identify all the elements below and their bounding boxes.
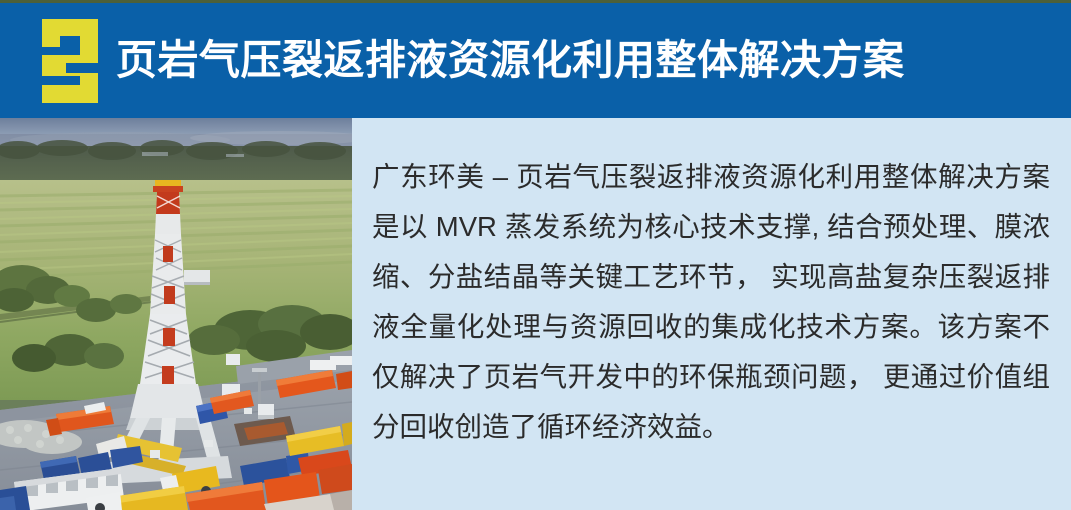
description-paragraph: 广东环美 – 页岩气压裂返排液资源化利用整体解决方案是以 MVR 蒸发系统为核心… [372, 152, 1050, 452]
shale-gas-drilling-rig-aerial-photo [0, 118, 352, 510]
header-content: 页岩气压裂返排液资源化利用整体解决方案 [0, 3, 1071, 118]
slide-page: 页岩气压裂返排液资源化利用整体解决方案 [0, 0, 1071, 510]
description-text: 广东环美 – 页岩气压裂返排液资源化利用整体解决方案是以 MVR 蒸发系统为核心… [372, 152, 1050, 452]
stylized-numeral-two-icon [36, 19, 108, 103]
page-title: 页岩气压裂返排液资源化利用整体解决方案 [116, 40, 905, 81]
